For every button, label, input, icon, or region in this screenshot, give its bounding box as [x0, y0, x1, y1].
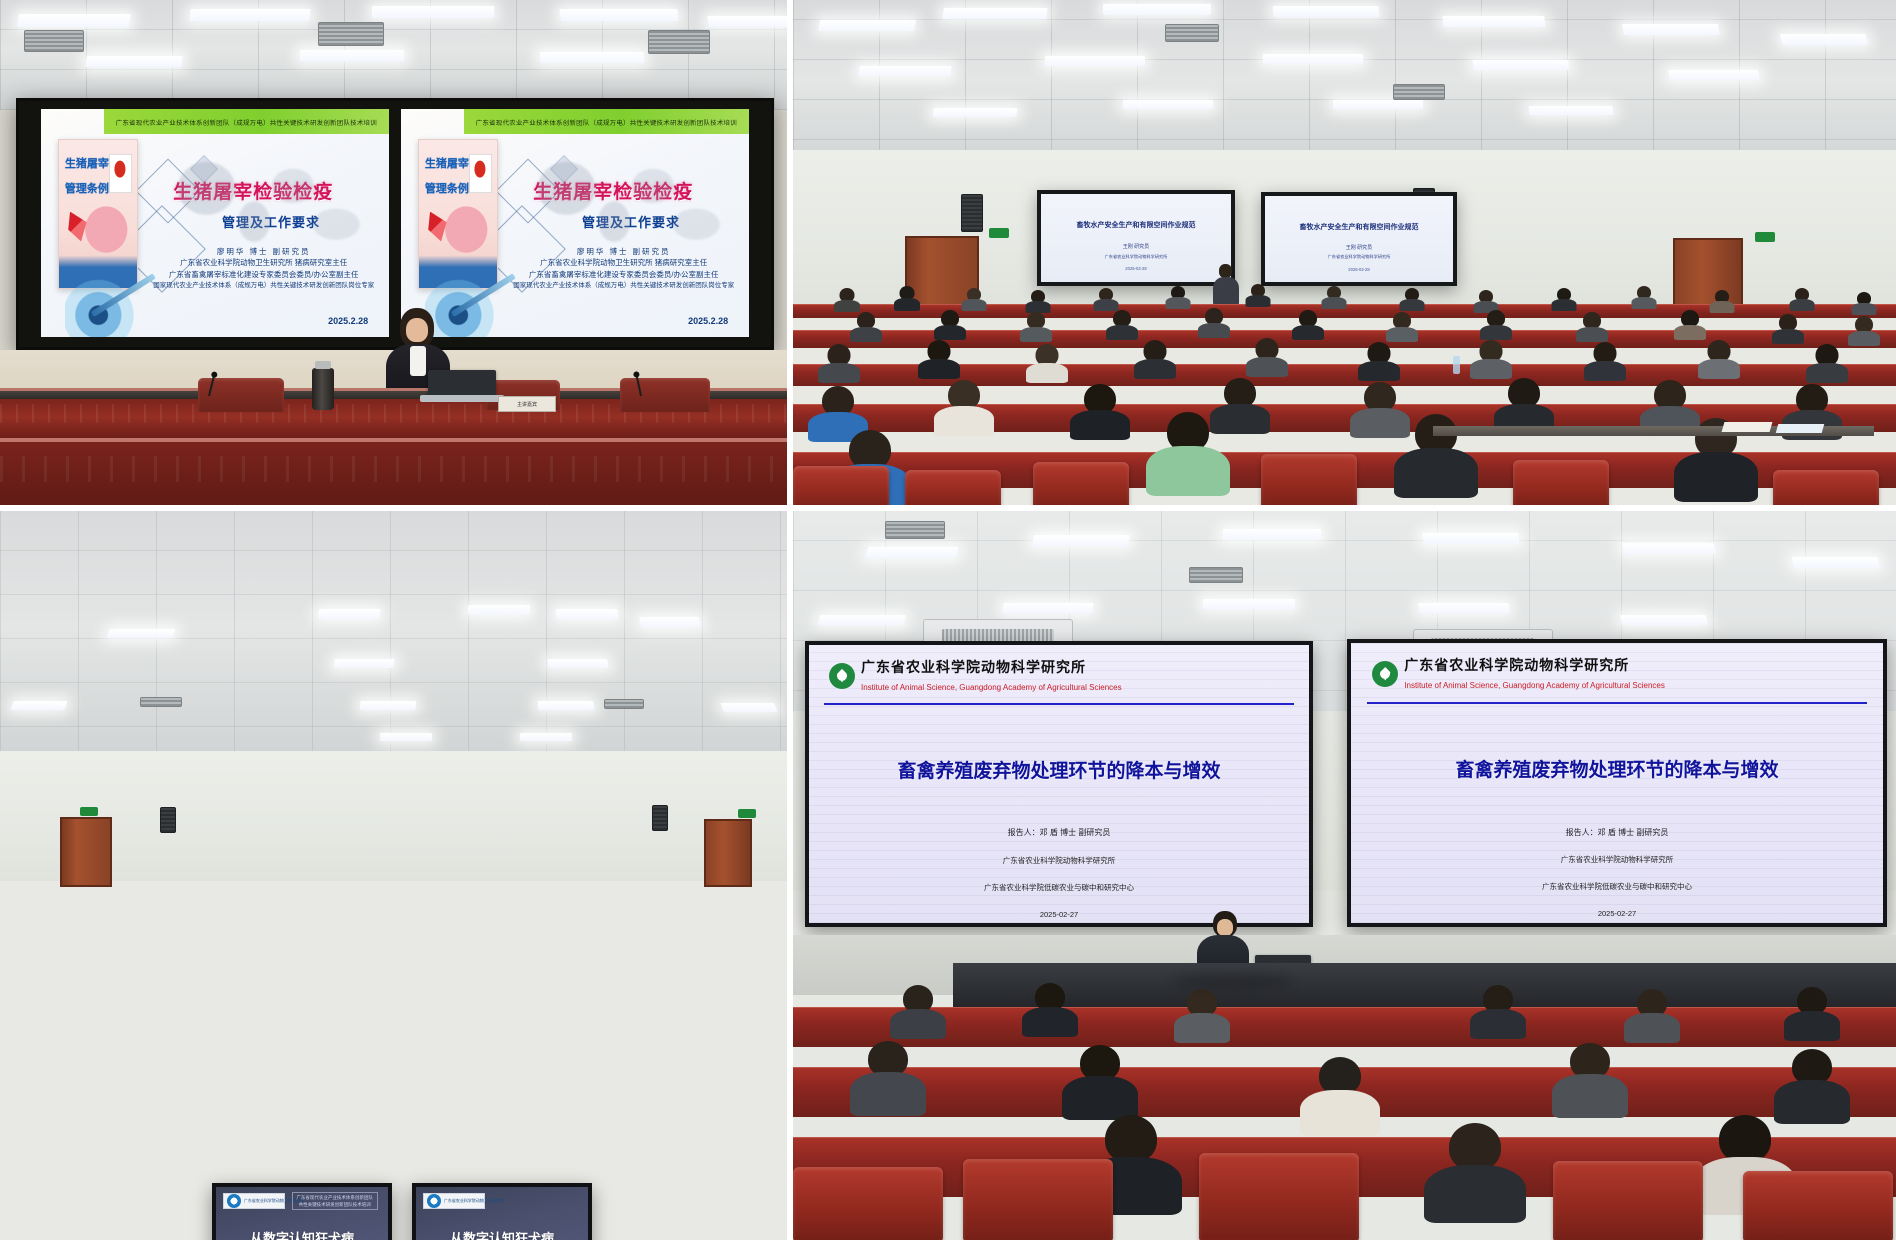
credit-affiliation-3: 国家现代农业产业技术体系（成规万电）共性关键技术研发创新团队岗位专家	[145, 281, 382, 291]
attendee	[1093, 288, 1119, 310]
ceiling-vent	[318, 22, 384, 46]
ceiling-light	[540, 52, 645, 63]
ceiling-light	[360, 701, 417, 710]
slide-title: 畜禽养殖废弃物处理环节的降本与增效	[809, 756, 1309, 783]
seat	[1033, 462, 1129, 511]
attendee	[1025, 290, 1051, 312]
attendee	[1173, 989, 1231, 1041]
wall-speaker	[652, 805, 668, 831]
ceiling-light	[1123, 100, 1213, 109]
ceiling-light	[1418, 603, 1509, 613]
stage-trim	[0, 438, 787, 442]
presenter-head	[1219, 264, 1232, 278]
ceiling-light	[555, 609, 618, 619]
attendee	[1771, 314, 1805, 342]
ceiling-light	[1529, 106, 1614, 115]
attendee	[1479, 310, 1513, 338]
presentation-screen-left: 广东省农业科学院动物卫生研究所 广东省现代农业产业技术体系创新团队 共性关键技术…	[212, 1183, 392, 1240]
ceiling-light	[300, 50, 404, 61]
credit-presenter: 廖明华 博士 副研究员	[145, 246, 382, 258]
slide-date: 2025-02-27	[1040, 910, 1078, 919]
ceiling-light	[107, 629, 176, 638]
attendee	[1133, 340, 1177, 376]
laptop	[428, 370, 496, 396]
attendee	[933, 380, 995, 434]
ceiling-light	[1223, 529, 1321, 540]
ceiling-light	[942, 8, 1047, 19]
attendee	[1021, 983, 1079, 1035]
slide-banner-text: 广东省现代农业产业技术体系创新团队（成规万电）共性关键技术研发创新团队技术培训	[116, 117, 377, 127]
ceiling-light	[1472, 60, 1569, 70]
seat	[793, 466, 889, 511]
ceiling-light	[858, 66, 951, 76]
seat	[963, 1159, 1113, 1240]
attendee	[1575, 312, 1609, 340]
ceiling-light	[1045, 56, 1145, 66]
slide-org-name: 广东省农业科学院动物卫生研究所	[444, 1199, 504, 1204]
book-title-line2: 管理条例	[65, 184, 109, 196]
ceiling-light	[707, 16, 789, 27]
ceiling-light	[317, 609, 381, 619]
attendee	[1245, 284, 1271, 306]
credit-affiliation-2: 广东省农业科学院低碳农业与碳中和研究中心	[984, 883, 1134, 892]
decorative-diamond-icon	[190, 155, 218, 183]
attendee	[1851, 292, 1877, 314]
projection-title: 畜牧水产安全生产和有限空间作业规范	[1265, 222, 1453, 232]
slide-org-header: 广东省农业科学院动物卫生研究所	[423, 1193, 485, 1209]
attendee	[1105, 310, 1139, 338]
attendee	[1061, 1045, 1139, 1117]
ceiling-light	[1032, 535, 1130, 546]
seat	[793, 1167, 943, 1240]
credit-affiliation-2: 广东省畜禽屠宰标准化建设专家委员会委员/办公室副主任	[505, 269, 742, 281]
exit-sign	[80, 807, 98, 816]
slide-left-pig-inspection: 广东省现代农业产业技术体系创新团队（成规万电）共性关键技术研发创新团队技术培训 …	[41, 109, 389, 337]
slide-org-en: Institute of Animal Science, Guangdong A…	[1404, 681, 1665, 690]
attendee	[1321, 286, 1347, 308]
national-seal-icon	[109, 154, 132, 193]
ceiling-light	[1263, 54, 1363, 64]
ceiling-vent	[648, 30, 710, 54]
attendee	[1019, 312, 1053, 340]
slide-sub-title: 管理及工作要求	[582, 212, 680, 231]
credit-affiliation-1: 广东省农业科学院动物科学研究所	[1561, 855, 1674, 864]
projection-screen-right: 广东省农业科学院动物科学研究所 Institute of Animal Scie…	[1347, 639, 1887, 927]
decorative-diamond-icon	[136, 159, 201, 224]
lecturer-face	[406, 318, 428, 342]
slide-green-banner: 广东省现代农业产业技术体系创新团队（成规万电）共性关键技术研发创新团队技术培训	[104, 109, 389, 134]
attendee	[1493, 378, 1555, 432]
slide-title: 从数字认知狂犬病	[216, 1228, 388, 1240]
attendee	[889, 985, 947, 1037]
attendee	[1709, 290, 1735, 312]
slide-org-block: 广东省农业科学院动物科学研究所 Institute of Animal Scie…	[861, 657, 1122, 695]
banner-line-1: 广东省现代农业产业技术体系创新团队	[293, 1195, 377, 1202]
seat	[1743, 1171, 1893, 1240]
ceiling-light	[538, 701, 595, 710]
decorative-diamond-icon	[496, 159, 561, 224]
credit-affiliation-2: 广东省农业科学院低碳农业与碳中和研究中心	[1542, 882, 1692, 891]
slide-date: 2025-02-27	[1598, 909, 1636, 918]
slide-header: 广东省农业科学院动物科学研究所 Institute of Animal Scie…	[1351, 651, 1883, 696]
slide-credits: 廖明华 博士 副研究员 广东省农业科学院动物卫生研究所 猪病研究室主任 广东省畜…	[505, 246, 742, 291]
ceiling-light	[1273, 6, 1380, 17]
ceiling	[0, 511, 787, 771]
credit-affiliation-1: 广东省农业科学院动物科学研究所	[1003, 856, 1116, 865]
attendee	[1805, 344, 1849, 380]
attendee	[1291, 310, 1325, 338]
handout-paper	[1722, 422, 1773, 432]
slide-credits: 报告人：邓 盾 博士 副研究员 广东省农业科学院动物科学研究所 广东省农业科学院…	[1351, 817, 1883, 926]
seat	[1513, 460, 1609, 511]
institute-logo-icon	[829, 663, 855, 689]
seat	[1553, 1161, 1703, 1240]
ceiling-light	[520, 733, 572, 741]
ceiling-vent	[140, 697, 182, 707]
front-desk	[953, 963, 1896, 1007]
decorative-diamond-icon	[550, 155, 578, 183]
ceiling-light	[866, 547, 959, 558]
projection-affiliation: 广东省农业科学院动物科学研究所	[1041, 254, 1231, 260]
attendee	[1299, 1057, 1381, 1133]
attendee	[1673, 310, 1707, 338]
ceiling-light	[10, 701, 67, 710]
wall-speaker	[961, 194, 983, 232]
exit-sign	[1755, 232, 1775, 242]
institute-logo-icon	[227, 1194, 241, 1208]
ceiling-light	[559, 9, 678, 21]
projection-presenter: 王刚 研究员	[1041, 243, 1231, 250]
attendee	[1025, 344, 1069, 380]
attendee	[1473, 290, 1499, 312]
stage-pattern	[0, 456, 787, 482]
seat	[1773, 470, 1879, 511]
side-door	[60, 817, 112, 887]
book-title-line1: 生猪屠宰	[425, 159, 469, 171]
attendee	[1197, 308, 1231, 336]
seat	[905, 470, 1001, 511]
slide-date: 2025.2.28	[41, 316, 368, 326]
slide-org-en: Institute of Animal Science, Guangdong A…	[861, 683, 1122, 692]
slide-title: 畜禽养殖废弃物处理环节的降本与增效	[1351, 755, 1883, 782]
slide-green-banner: 广东省现代农业产业技术体系创新团队（成规万电）共性关键技术研发创新团队技术培训	[464, 109, 749, 134]
ceiling-light	[1668, 70, 1760, 80]
projection-screen-left: 广东省农业科学院动物科学研究所 Institute of Animal Scie…	[805, 641, 1313, 927]
attendee	[1399, 288, 1425, 310]
book-title-line1: 生猪屠宰	[65, 159, 109, 171]
attendee	[1783, 987, 1841, 1039]
thermos-flask	[312, 368, 334, 410]
attendee	[833, 288, 861, 310]
ceiling-light	[1622, 24, 1720, 35]
ceiling-light	[468, 605, 530, 615]
banner-line-3: 2025年2月28日	[293, 1209, 377, 1211]
attendee	[933, 310, 967, 338]
exit-sign	[738, 809, 756, 818]
book-title-line2: 管理条例	[425, 184, 469, 196]
pig-illustration	[66, 202, 132, 255]
ceiling	[0, 0, 787, 110]
attendee	[961, 288, 987, 310]
attendee	[1789, 288, 1815, 310]
institute-logo-icon	[427, 1194, 441, 1208]
slide-banner: 广东省现代农业产业技术体系创新团队 共性关键技术研发创新团队技术培训 2025年…	[292, 1192, 378, 1210]
attendee	[1847, 316, 1881, 344]
slide-title: 从数字认知狂犬病	[416, 1228, 588, 1240]
ceiling-light	[1333, 100, 1423, 109]
institute-logo-icon	[1372, 661, 1398, 687]
front-presenter	[1211, 264, 1241, 304]
ceiling-light	[933, 108, 1018, 117]
projection-affiliation: 广东省农业科学院动物科学研究所	[1265, 254, 1453, 260]
photo-collage: 广东省现代农业产业技术体系创新团队（成规万电）共性关键技术研发创新团队技术培训 …	[0, 0, 1896, 1240]
ceiling-light	[1203, 599, 1295, 609]
slide-credits: 廖明华 博士 副研究员 广东省农业科学院动物卫生研究所 猪病研究室主任 广东省畜…	[145, 246, 382, 291]
water-bottle	[1453, 356, 1460, 374]
room-wall	[0, 751, 787, 881]
ceiling-light	[720, 703, 777, 712]
ceiling-vent	[24, 30, 84, 52]
ceiling-light	[380, 733, 432, 741]
desk-shadow	[1173, 973, 1293, 989]
attendee	[1583, 342, 1627, 378]
credit-presenter: 报告人：邓 盾 博士 副研究员	[1566, 828, 1669, 837]
ceiling-light	[1780, 34, 1869, 45]
lecturer-shirt	[410, 346, 426, 376]
presenter-torso	[1213, 277, 1239, 305]
banner-line-2: 共性关键技术研发创新团队技术培训	[293, 1202, 377, 1209]
photo-panel-top-left: 广东省现代农业产业技术体系创新团队（成规万电）共性关键技术研发创新团队技术培训 …	[0, 0, 793, 511]
credit-affiliation-1: 广东省农业科学院动物卫生研究所 猪病研究室主任	[145, 257, 382, 269]
handout-paper	[1776, 424, 1825, 433]
attendee	[1165, 286, 1191, 308]
attendee	[1469, 340, 1513, 376]
wall-speaker	[160, 807, 176, 833]
attendee	[1245, 338, 1289, 374]
ceiling-light	[1442, 16, 1546, 27]
ceiling-vent	[604, 699, 644, 709]
ceiling-light	[1622, 543, 1716, 554]
credit-affiliation-2: 广东省畜禽屠宰标准化建设专家委员会委员/办公室副主任	[145, 269, 382, 281]
photo-panel-bottom-left: 广东省农业科学院动物卫生研究所 广东省现代农业产业技术体系创新团队 共性关键技术…	[0, 511, 793, 1240]
slide-banner-text: 广东省现代农业产业技术体系创新团队（成规万电）共性关键技术研发创新团队技术培训	[476, 117, 737, 127]
ceiling-light	[1792, 557, 1881, 568]
stage-front	[0, 438, 787, 511]
attendee	[849, 1041, 927, 1113]
attendee	[917, 340, 961, 376]
attendee	[1697, 340, 1741, 376]
ceiling-vent	[1165, 24, 1219, 42]
ceiling-light	[1422, 533, 1519, 544]
ceiling-light	[1103, 4, 1211, 15]
presentation-screen-right: 广东省农业科学院动物卫生研究所 从数字认知狂犬病 王晓虎 博士 研究员 广东省动…	[412, 1183, 592, 1240]
attendee	[1069, 384, 1131, 438]
projection-date: 2025-02-28	[1041, 266, 1231, 271]
slide-header: 广东省农业科学院动物科学研究所 Institute of Animal Scie…	[809, 653, 1309, 697]
slide-org-block: 广东省农业科学院动物科学研究所 Institute of Animal Scie…	[1404, 655, 1665, 693]
slide-divider	[824, 703, 1294, 705]
side-door	[704, 819, 752, 887]
ceiling-light	[818, 20, 916, 31]
chair	[620, 378, 710, 412]
projection-date: 2025-02-28	[1265, 267, 1453, 272]
ceiling-light	[372, 6, 494, 18]
projection-screen-left: 畜牧水产安全生产和有限空间作业规范 王刚 研究员 广东省农业科学院动物科学研究所…	[1037, 190, 1235, 286]
seat	[1261, 454, 1357, 511]
ceiling-grid	[0, 511, 787, 771]
attendee	[1551, 1043, 1629, 1115]
ceiling-vent	[1393, 84, 1445, 100]
attendee	[893, 286, 921, 310]
attendee	[1551, 288, 1577, 310]
attendee	[849, 312, 883, 340]
ceiling-light	[1002, 603, 1093, 613]
photo-panel-bottom-right: 广东省农业科学院动物科学研究所 Institute of Animal Scie…	[793, 511, 1896, 1240]
ceiling-light	[333, 659, 394, 668]
name-plate: 主讲嘉宾	[498, 396, 556, 412]
pig-illustration	[426, 202, 492, 255]
national-seal-icon	[469, 154, 492, 193]
ceiling-light	[1620, 615, 1708, 625]
credit-presenter: 廖明华 博士 副研究员	[505, 246, 742, 258]
slide-main-title: 生猪屠宰检验检疫	[173, 177, 333, 204]
attendee	[1773, 1049, 1851, 1121]
photo-panel-top-right: 畜牧水产安全生产和有限空间作业规范 王刚 研究员 广东省农业科学院动物科学研究所…	[793, 0, 1896, 511]
slide-credits: 报告人：邓 盾 博士 副研究员 广东省农业科学院动物科学研究所 广东省农业科学院…	[809, 817, 1309, 926]
attendee	[1623, 989, 1681, 1041]
attendee	[817, 344, 861, 380]
ceiling-light	[547, 659, 608, 668]
ceiling-light	[818, 615, 906, 625]
exit-sign	[989, 228, 1009, 238]
seat-row	[793, 1007, 1896, 1047]
attendee	[1631, 286, 1657, 308]
ceiling-light	[17, 14, 131, 27]
projection-presenter: 王刚 研究员	[1265, 244, 1453, 251]
ceiling-light	[189, 9, 310, 21]
attendee	[1469, 985, 1527, 1037]
slide-sub-title: 管理及工作要求	[222, 212, 320, 231]
slide-org-header: 广东省农业科学院动物卫生研究所	[223, 1193, 285, 1209]
credit-presenter: 报告人：邓 盾 博士 副研究员	[1008, 828, 1111, 837]
attendee	[1145, 412, 1231, 494]
credit-affiliation-3: 国家现代农业产业技术体系（成规万电）共性关键技术研发创新团队岗位专家	[505, 281, 742, 291]
ceiling-light	[639, 617, 701, 627]
ceiling-vent	[1189, 567, 1243, 583]
attendee	[1357, 342, 1401, 378]
seat	[1199, 1153, 1359, 1240]
ceiling-vent	[885, 521, 945, 539]
slide-org-cn: 广东省农业科学院动物科学研究所	[1404, 657, 1629, 673]
attendee	[1423, 1123, 1527, 1219]
projection-screen-right: 畜牧水产安全生产和有限空间作业规范 王刚 研究员 广东省农业科学院动物科学研究所…	[1261, 192, 1457, 286]
attendee	[1385, 312, 1419, 340]
projection-title: 畜牧水产安全生产和有限空间作业规范	[1041, 220, 1231, 230]
slide-main-title: 生猪屠宰检验检疫	[533, 177, 693, 204]
slide-org-cn: 广东省农业科学院动物科学研究所	[861, 659, 1086, 675]
slide-divider	[1367, 702, 1867, 704]
credit-affiliation-1: 广东省农业科学院动物卫生研究所 猪病研究室主任	[505, 257, 742, 269]
ceiling-light	[85, 56, 182, 67]
speaker-face	[1217, 919, 1233, 936]
